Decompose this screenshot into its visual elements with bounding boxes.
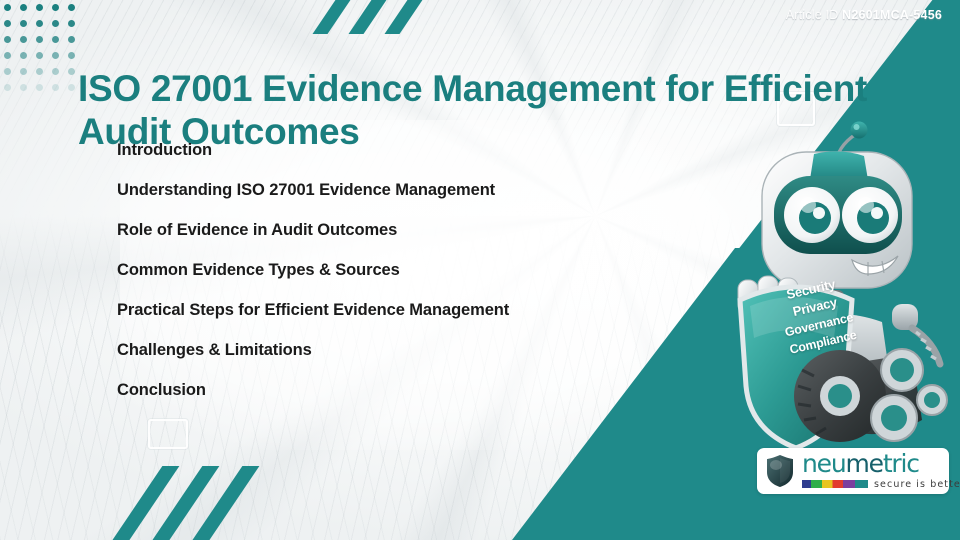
agenda-item-introduction[interactable]: Introduction <box>117 142 677 159</box>
logo-color-bar <box>802 480 868 488</box>
logo-word-part-3: tric <box>883 449 919 478</box>
logo-word-part-1: neu <box>802 449 845 478</box>
logo-text-block: neumetric secure is better <box>802 452 960 490</box>
antenna-bulb <box>851 122 868 139</box>
agenda-item-practical[interactable]: Practical Steps for Efficient Evidence M… <box>117 302 677 319</box>
logo-wordmark: neumetric <box>802 452 960 476</box>
robot-mascot-illustration <box>716 108 960 448</box>
outlined-square-decoration-bottom <box>148 419 188 449</box>
logo-tagline: secure is better <box>874 479 960 490</box>
diagonal-stripes-bottom <box>128 466 268 540</box>
neumetric-logo[interactable]: neumetric secure is better <box>757 448 949 494</box>
agenda-item-role[interactable]: Role of Evidence in Audit Outcomes <box>117 222 677 239</box>
robot-mascot: Security Privacy Governance Compliance <box>716 108 960 448</box>
diagonal-stripes-top <box>322 0 452 28</box>
agenda-item-understanding[interactable]: Understanding ISO 27001 Evidence Managem… <box>117 182 677 199</box>
article-id-value: N2601MCA-5456 <box>842 8 942 22</box>
agenda-list: Introduction Understanding ISO 27001 Evi… <box>117 142 677 422</box>
article-id: Article ID N2601MCA-5456 <box>786 8 942 22</box>
slide-canvas: Article ID N2601MCA-5456 ISO 27001 Evide… <box>0 0 960 540</box>
agenda-item-challenges[interactable]: Challenges & Limitations <box>117 342 677 359</box>
logo-shield-icon <box>765 454 795 488</box>
dot-grid-decoration <box>4 4 75 100</box>
logo-tagline-row: secure is better <box>802 479 960 490</box>
agenda-item-conclusion[interactable]: Conclusion <box>117 382 677 399</box>
agenda-item-types[interactable]: Common Evidence Types & Sources <box>117 262 677 279</box>
article-id-label: Article ID <box>786 8 839 22</box>
logo-word-part-2: me <box>845 449 882 478</box>
robot-wheel-base <box>794 349 947 442</box>
